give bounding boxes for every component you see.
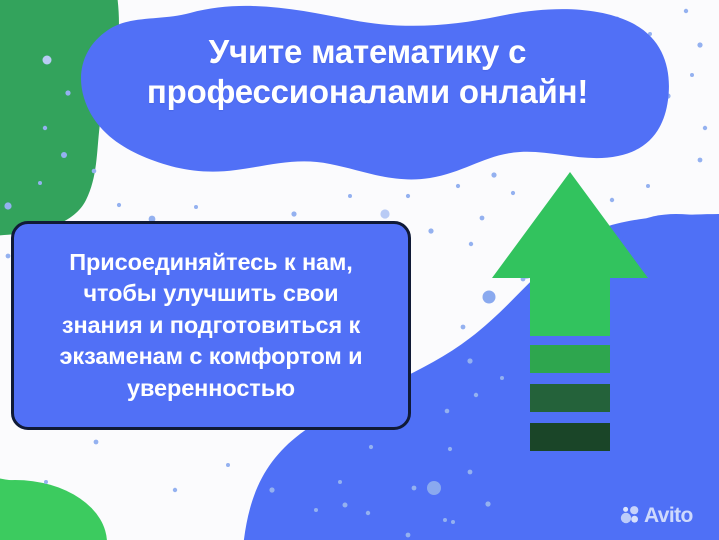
avito-dots-icon [620,505,640,525]
subtitle-line-2: чтобы улучшить свои [22,278,400,309]
arrow-head-and-shaft [492,172,648,336]
growth-arrow-svg [460,160,719,460]
headline-text: Учите математику с профессионалами онлай… [95,32,640,113]
arrow-segment-2 [530,384,610,412]
subtitle-card: Присоединяйтесь к нам, чтобы улучшить св… [11,221,411,430]
poster-canvas: Учите математику с профессионалами онлай… [0,0,719,540]
subtitle-line-4: экзаменам с комфортом и [22,341,400,372]
subtitle-line-3: знания и подготовиться к [22,310,400,341]
subtitle-text: Присоединяйтесь к нам, чтобы улучшить св… [14,247,408,404]
avito-watermark: Avito [620,503,693,527]
arrow-segment-1 [530,345,610,373]
growth-arrow-graphic [460,160,719,460]
subtitle-line-5: уверенностью [22,373,400,404]
headline-line-1: Учите математику с [95,32,640,72]
headline-line-2: профессионалами онлайн! [95,72,640,112]
arrow-segment-3 [530,423,610,451]
avito-wordmark: Avito [644,505,693,526]
subtitle-line-1: Присоединяйтесь к нам, [22,247,400,278]
headline-banner: Учите математику с профессионалами онлай… [0,0,719,180]
